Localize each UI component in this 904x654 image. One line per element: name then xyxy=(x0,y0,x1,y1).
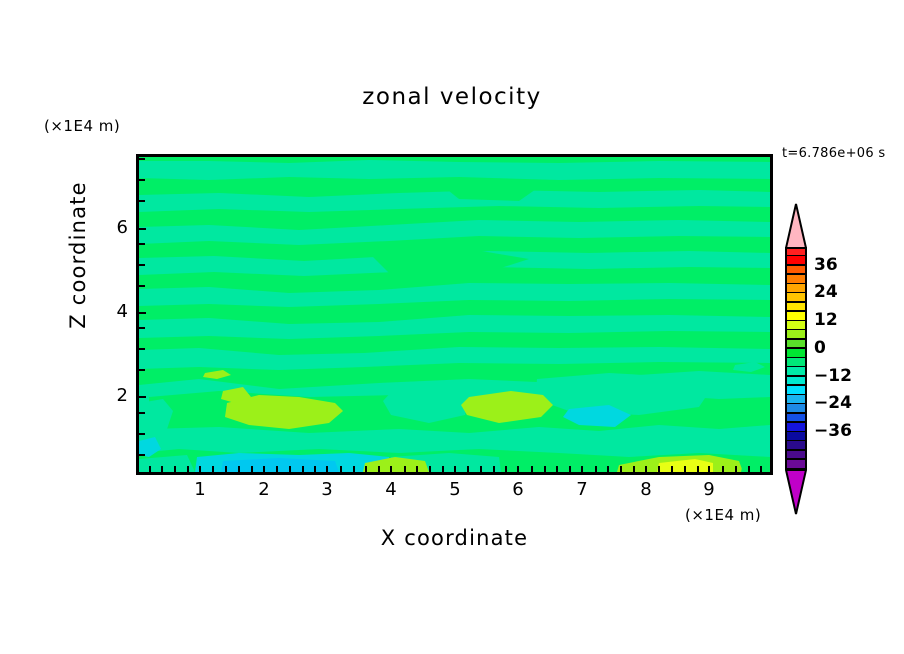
x-major-tick xyxy=(708,466,710,475)
y-minor-tick xyxy=(139,369,145,371)
colorbar-over-arrow xyxy=(785,203,807,247)
x-major-tick xyxy=(390,466,392,475)
x-minor-tick xyxy=(684,466,686,472)
x-minor-tick xyxy=(467,466,469,472)
x-minor-tick xyxy=(238,466,240,472)
y-minor-tick xyxy=(139,348,145,350)
plot-area xyxy=(136,154,773,475)
x-minor-tick xyxy=(340,466,342,472)
x-minor-tick xyxy=(544,466,546,472)
y-minor-tick xyxy=(139,412,145,414)
x-minor-tick xyxy=(212,466,214,472)
x-tick-label: 1 xyxy=(180,479,220,500)
x-major-tick xyxy=(517,466,519,475)
colorbar-tick-label: 12 xyxy=(814,310,838,330)
y-major-tick xyxy=(137,228,146,230)
y-minor-tick xyxy=(139,433,145,435)
colorbar-under-arrow xyxy=(785,469,807,513)
x-minor-tick xyxy=(429,466,431,472)
x-minor-tick xyxy=(748,466,750,472)
x-tick-label: 8 xyxy=(626,479,666,500)
x-axis-unit-label: (×1E4 m) xyxy=(685,506,761,524)
y-axis-unit-label: (×1E4 m) xyxy=(44,117,120,135)
x-minor-tick xyxy=(620,466,622,472)
x-minor-tick xyxy=(595,466,597,472)
x-minor-tick xyxy=(251,466,253,472)
x-minor-tick xyxy=(607,466,609,472)
y-major-tick xyxy=(137,396,146,398)
x-minor-tick xyxy=(531,466,533,472)
colorbar-tick-label: 0 xyxy=(814,338,826,358)
x-minor-tick xyxy=(404,466,406,472)
x-tick-label: 5 xyxy=(435,479,475,500)
colorbar-tick-label: 24 xyxy=(814,282,838,302)
x-minor-tick xyxy=(416,466,418,472)
x-minor-tick xyxy=(442,466,444,472)
x-minor-tick xyxy=(353,466,355,472)
x-minor-tick xyxy=(289,466,291,472)
x-minor-tick xyxy=(187,466,189,472)
y-minor-tick xyxy=(139,158,145,160)
x-minor-tick xyxy=(493,466,495,472)
x-axis-title: X coordinate xyxy=(136,526,773,550)
y-tick-label: 4 xyxy=(88,301,128,322)
x-minor-tick xyxy=(365,466,367,472)
colorbar-tick-label: −12 xyxy=(814,366,852,386)
y-minor-tick xyxy=(139,327,145,329)
x-minor-tick xyxy=(569,466,571,472)
y-minor-tick xyxy=(139,243,145,245)
colorbar-tick-label: −24 xyxy=(814,393,852,413)
x-minor-tick xyxy=(161,466,163,472)
x-minor-tick xyxy=(149,466,151,472)
time-annotation: t=6.786e+06 s xyxy=(782,146,885,161)
x-major-tick xyxy=(199,466,201,475)
x-major-tick xyxy=(581,466,583,475)
x-tick-label: 3 xyxy=(307,479,347,500)
y-major-tick xyxy=(137,312,146,314)
y-tick-label: 6 xyxy=(88,217,128,238)
x-minor-tick xyxy=(276,466,278,472)
x-major-tick xyxy=(326,466,328,475)
x-minor-tick xyxy=(671,466,673,472)
contour-figure: zonal velocity (×1E4 m) t=6.786e+06 s xyxy=(0,0,904,654)
x-major-tick xyxy=(263,466,265,475)
page-title: zonal velocity xyxy=(0,84,904,110)
colorbar-tick-label: 36 xyxy=(814,255,838,275)
y-axis-title: Z coordinate xyxy=(66,155,90,355)
y-minor-tick xyxy=(139,285,145,287)
x-minor-tick xyxy=(378,466,380,472)
x-minor-tick xyxy=(722,466,724,472)
y-minor-tick xyxy=(139,264,145,266)
colorbar-tick-label: −36 xyxy=(814,421,852,441)
x-minor-tick xyxy=(658,466,660,472)
contour-field xyxy=(139,157,770,472)
x-minor-tick xyxy=(225,466,227,472)
x-tick-label: 7 xyxy=(562,479,602,500)
x-major-tick xyxy=(645,466,647,475)
y-minor-tick xyxy=(139,200,145,202)
x-minor-tick xyxy=(760,466,762,472)
y-minor-tick xyxy=(139,179,145,181)
x-tick-label: 6 xyxy=(498,479,538,500)
x-tick-label: 9 xyxy=(689,479,729,500)
x-tick-label: 4 xyxy=(371,479,411,500)
y-minor-tick xyxy=(139,454,145,456)
x-minor-tick xyxy=(505,466,507,472)
y-tick-label: 2 xyxy=(88,385,128,406)
x-minor-tick xyxy=(314,466,316,472)
x-minor-tick xyxy=(697,466,699,472)
x-tick-label: 2 xyxy=(244,479,284,500)
x-major-tick xyxy=(454,466,456,475)
x-minor-tick xyxy=(633,466,635,472)
x-minor-tick xyxy=(735,466,737,472)
x-minor-tick xyxy=(556,466,558,472)
x-minor-tick xyxy=(302,466,304,472)
x-minor-tick xyxy=(480,466,482,472)
x-minor-tick xyxy=(174,466,176,472)
colorbar: 3624120−12−24−36 xyxy=(781,203,811,515)
